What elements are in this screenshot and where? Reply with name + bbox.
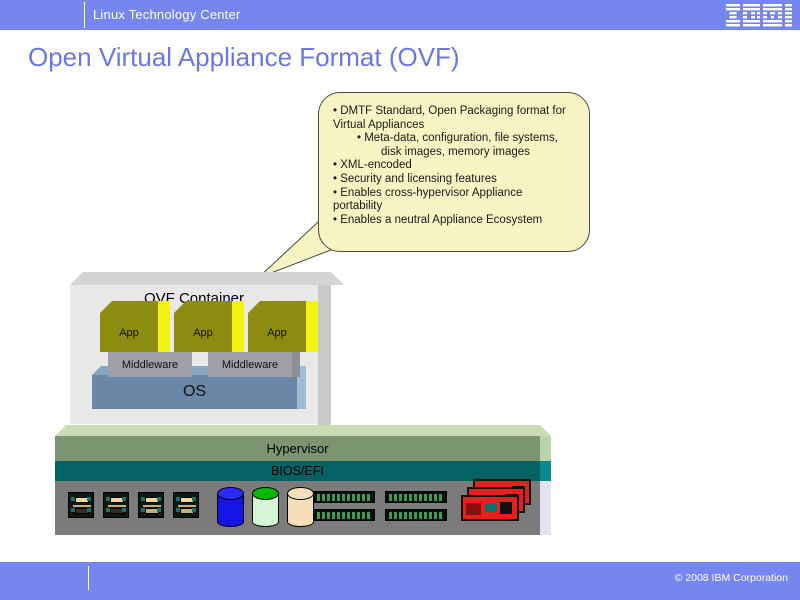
ibm-logo-icon	[726, 4, 792, 27]
disk-lid	[217, 487, 244, 500]
middleware-block: Middleware	[108, 352, 192, 377]
footer-divider	[88, 566, 89, 590]
ovf-container-box: OVF Container OS Middleware Middleware A…	[70, 272, 350, 437]
middleware-label: Middleware	[122, 359, 178, 371]
app-front-face: App	[174, 313, 232, 352]
callout-line: • XML-encoded	[333, 159, 579, 173]
hypervisor-top-bevel-left	[55, 425, 66, 436]
callout-line: portability	[333, 200, 579, 214]
hypervisor-layer: Hypervisor	[55, 436, 540, 461]
page-title: Open Virtual Appliance Format (OVF)	[28, 42, 460, 73]
cpu-icon	[173, 492, 199, 518]
disk-icon	[287, 487, 314, 527]
cpu-icon	[103, 492, 129, 518]
app-top-face	[112, 301, 158, 313]
callout-bubble: • DMTF Standard, Open Packaging format f…	[250, 88, 595, 283]
middleware-block: Middleware	[208, 352, 292, 377]
app-label: App	[193, 327, 213, 339]
hypervisor-side-face	[540, 436, 551, 461]
app-front-face: App	[248, 313, 306, 352]
footer-bar: © 2008 IBM Corporation	[0, 562, 800, 600]
app-side-face	[232, 301, 244, 352]
header-bar: Linux Technology Center	[0, 0, 800, 30]
callout-text-box: • DMTF Standard, Open Packaging format f…	[318, 92, 590, 252]
callout-line: • Enables a neutral Appliance Ecosystem	[333, 214, 579, 228]
app-top-face	[186, 301, 232, 313]
callout-line: • DMTF Standard, Open Packaging format f…	[333, 105, 579, 119]
os-top-face	[92, 366, 101, 375]
app-block: App	[248, 313, 318, 352]
middleware-label: Middleware	[222, 359, 278, 371]
app-front-face: App	[100, 313, 158, 352]
app-side-face	[158, 301, 170, 352]
ovf-top-face	[83, 272, 331, 285]
os-label: OS	[183, 383, 206, 401]
app-top-face	[260, 301, 306, 313]
callout-line: • Meta-data, configuration, file systems…	[333, 132, 579, 146]
card-chip-secondary	[485, 503, 497, 512]
callout-line: • Enables cross-hypervisor Appliance	[333, 187, 579, 201]
memory-dimm-icon	[385, 509, 447, 521]
app-top-bevel	[248, 301, 260, 313]
adapter-card-icon	[461, 495, 519, 521]
app-top-bevel	[100, 301, 112, 313]
app-block: App	[100, 313, 170, 352]
hypervisor-label: Hypervisor	[266, 441, 328, 456]
disk-lid	[287, 487, 314, 500]
app-label: App	[267, 327, 287, 339]
card-connector	[466, 501, 481, 517]
app-side-face	[306, 301, 318, 352]
card-chip	[500, 502, 512, 514]
footer-copyright: © 2008 IBM Corporation	[675, 572, 788, 584]
middleware-front-face: Middleware	[208, 352, 292, 377]
disk-lid	[252, 487, 279, 500]
callout-line: • Security and licensing features	[333, 173, 579, 187]
platform-stack: Hypervisor BIOS/EFI	[55, 425, 555, 540]
cpu-icon	[68, 492, 94, 518]
os-front-face: OS	[92, 375, 297, 409]
memory-dimm-icon	[385, 491, 447, 503]
os-block: OS	[92, 375, 306, 409]
ovf-top-bevel-left	[70, 272, 83, 285]
hypervisor-top-bevel-right	[540, 425, 551, 436]
hypervisor-top-face	[66, 425, 540, 436]
app-top-bevel	[174, 301, 186, 313]
hardware-side-face	[540, 481, 551, 535]
header-divider	[84, 2, 85, 28]
memory-dimm-icon	[313, 509, 375, 521]
disk-icon	[252, 487, 279, 527]
ovf-side-face	[318, 285, 331, 424]
bios-side-face	[540, 461, 551, 481]
app-block: App	[174, 313, 244, 352]
header-brand-label: Linux Technology Center	[93, 7, 240, 22]
disk-icon	[217, 487, 244, 527]
memory-dimm-icon	[313, 491, 375, 503]
middleware-side-face	[292, 352, 300, 377]
bios-layer: BIOS/EFI	[55, 461, 540, 481]
bios-label: BIOS/EFI	[271, 464, 324, 478]
callout-line: Virtual Appliances	[333, 119, 579, 133]
cpu-icon	[138, 492, 164, 518]
middleware-front-face: Middleware	[108, 352, 192, 377]
callout-line: disk images, memory images	[333, 146, 579, 160]
ovf-top-bevel-right	[331, 272, 344, 285]
app-label: App	[119, 327, 139, 339]
